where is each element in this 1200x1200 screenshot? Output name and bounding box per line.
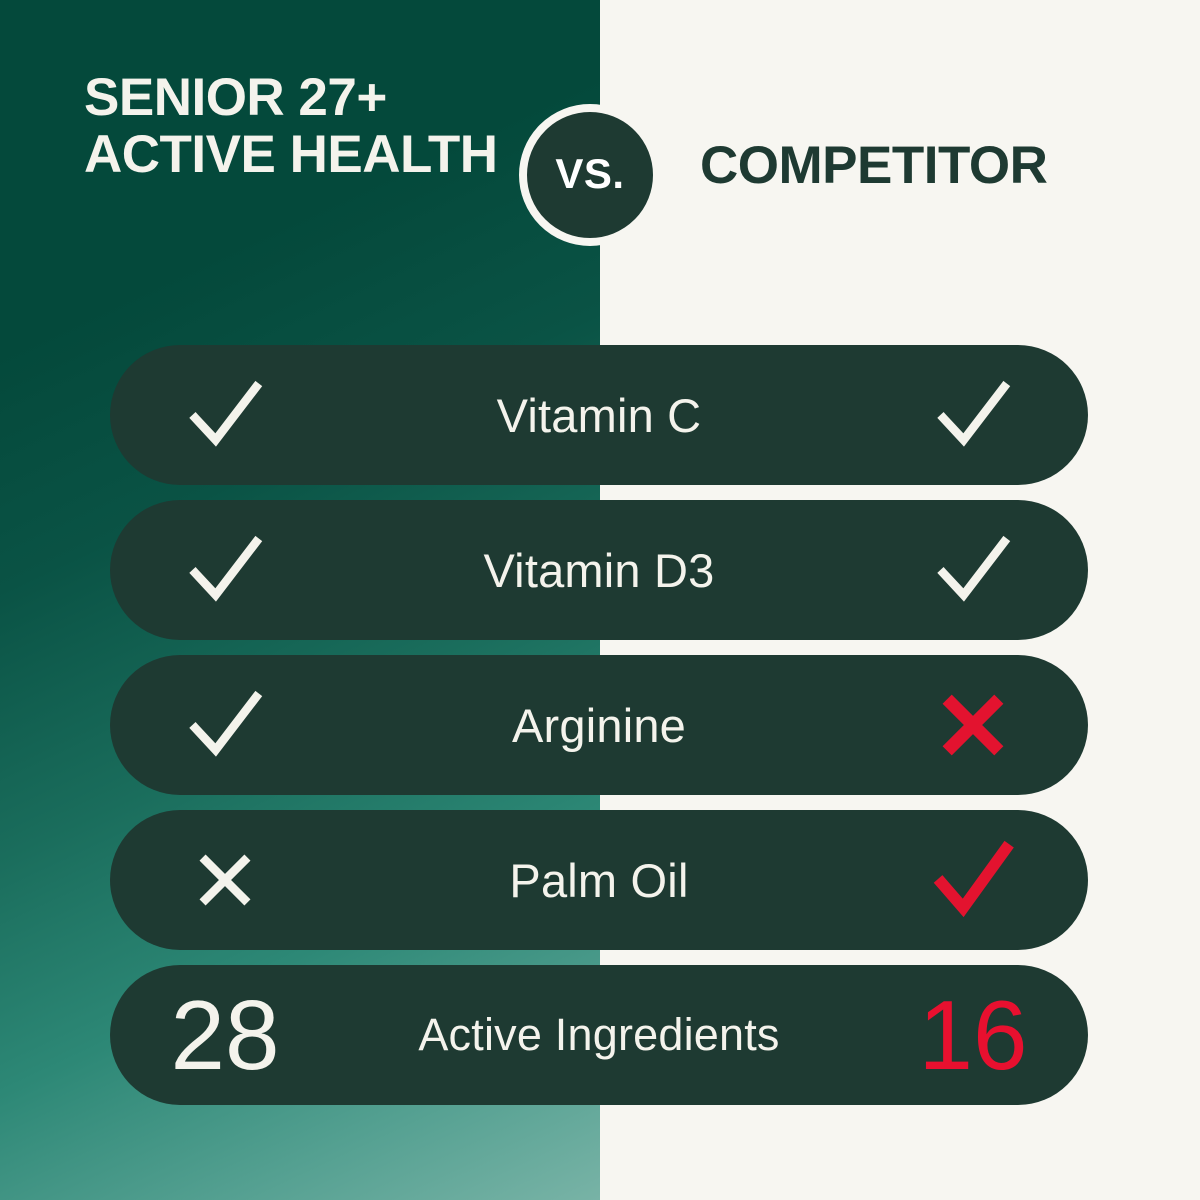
competitor-cell <box>858 687 1088 763</box>
product-title-line2: ACTIVE HEALTH <box>84 127 524 184</box>
comparison-rows: Vitamin C Vitamin D3 <box>110 345 1088 1105</box>
row-label: Vitamin D3 <box>340 543 858 598</box>
product-title: SENIOR 27+ ACTIVE HEALTH <box>84 70 524 183</box>
table-row: 28 Active Ingredients 16 <box>110 965 1088 1105</box>
product-count: 28 <box>170 986 279 1084</box>
cross-icon-red <box>935 687 1011 763</box>
competitor-count: 16 <box>918 986 1027 1084</box>
check-icon-red <box>932 839 1014 921</box>
table-row: Arginine <box>110 655 1088 795</box>
competitor-cell <box>858 376 1088 454</box>
product-title-line1: SENIOR 27+ <box>84 68 387 127</box>
competitor-cell <box>858 531 1088 609</box>
product-cell <box>110 531 340 609</box>
row-label: Vitamin C <box>340 388 858 443</box>
check-icon-white <box>186 376 264 454</box>
row-label: Arginine <box>340 698 858 753</box>
table-row: Palm Oil <box>110 810 1088 950</box>
competitor-cell: 16 <box>858 986 1088 1084</box>
check-icon-white <box>186 686 264 764</box>
table-row: Vitamin D3 <box>110 500 1088 640</box>
row-label: Palm Oil <box>340 853 858 908</box>
competitor-title: COMPETITOR <box>700 135 1160 196</box>
check-icon-white <box>186 531 264 609</box>
vs-badge: VS. <box>519 104 661 246</box>
product-cell: 28 <box>110 986 340 1084</box>
vs-label: VS. <box>555 150 624 198</box>
check-icon-white <box>934 376 1012 454</box>
competitor-cell <box>858 839 1088 921</box>
row-label: Active Ingredients <box>340 1009 858 1061</box>
product-cell <box>110 686 340 764</box>
cross-icon-white <box>192 847 258 913</box>
table-row: Vitamin C <box>110 345 1088 485</box>
product-cell <box>110 847 340 913</box>
comparison-infographic: SENIOR 27+ ACTIVE HEALTH VS. COMPETITOR … <box>0 0 1200 1200</box>
product-cell <box>110 376 340 454</box>
header: SENIOR 27+ ACTIVE HEALTH VS. COMPETITOR <box>0 0 1200 290</box>
check-icon-white <box>934 531 1012 609</box>
